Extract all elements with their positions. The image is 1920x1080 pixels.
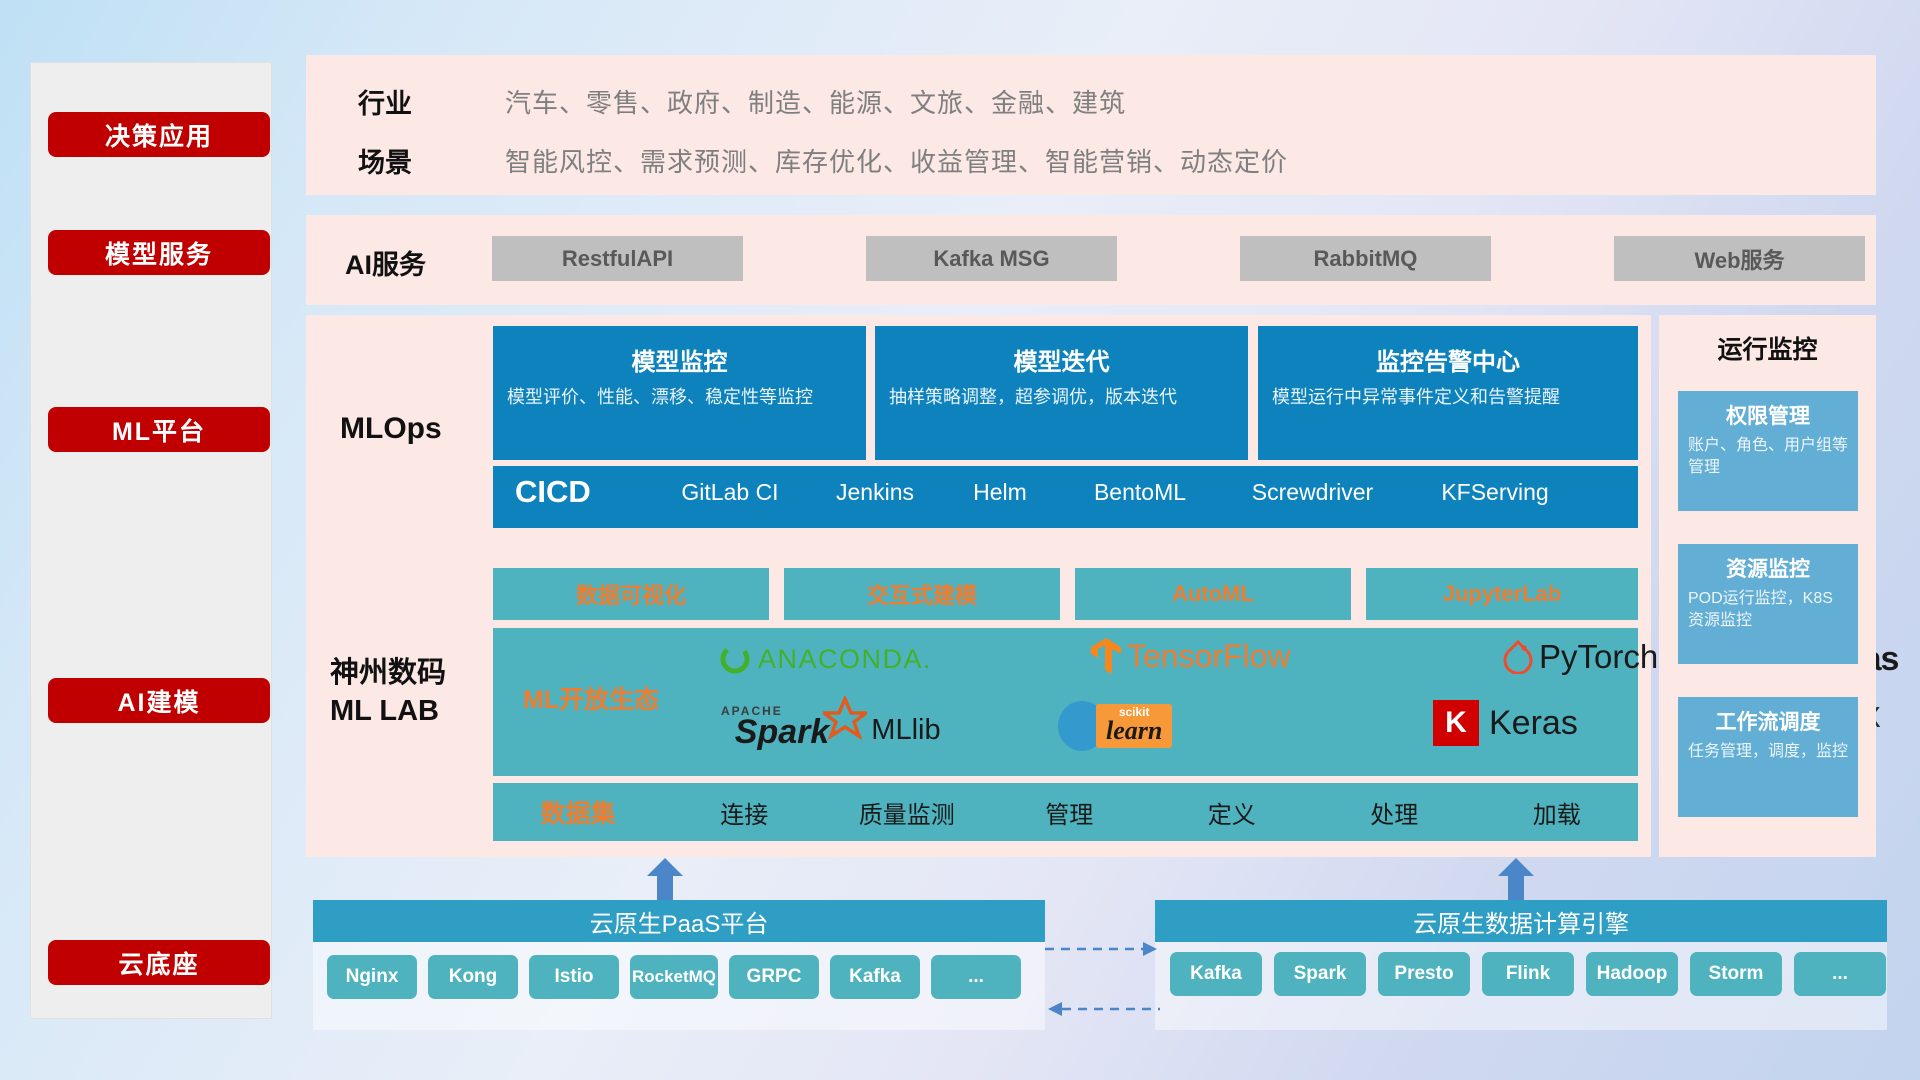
data-engine-item-flink[interactable]: Flink	[1482, 952, 1574, 996]
lab-tool-automl[interactable]: AutoML	[1075, 568, 1351, 620]
ai-service-label: AI服务	[345, 243, 426, 282]
cicd-bar: CICD GitLab CI Jenkins Helm BentoML Scre…	[493, 466, 1638, 528]
data-engine-item-label: Presto	[1394, 964, 1453, 984]
cicd-item-bentoml[interactable]: BentoML	[1065, 466, 1215, 507]
runtime-card-desc: 任务管理，调度，监控	[1688, 741, 1848, 763]
tensorflow-logo: TensorFlow	[1089, 636, 1291, 676]
tensorflow-icon	[1089, 636, 1123, 676]
ml-ecosystem-box: ML开放生态 ANACONDA. TensorFlow PyTorch S	[493, 628, 1638, 776]
layer-chip-label: 模型服务	[105, 235, 213, 271]
mlops-card-title: 模型迭代	[889, 342, 1234, 377]
ai-service-item-label: Kafka MSG	[933, 246, 1049, 272]
layer-chip-cloud-foundation[interactable]: 云底座	[48, 940, 270, 985]
data-engine-item-label: Hadoop	[1597, 964, 1668, 984]
paas-item-kafka[interactable]: Kafka	[830, 955, 920, 999]
ai-service-item-rabbitmq[interactable]: RabbitMQ	[1240, 236, 1491, 281]
paas-item-nginx[interactable]: Nginx	[327, 955, 417, 999]
runtime-card-desc: 账户、角色、用户组等管理	[1688, 435, 1848, 478]
layer-chip-label: 决策应用	[105, 117, 213, 153]
mlops-card-desc: 模型运行中异常事件定义和告警提醒	[1272, 385, 1624, 410]
arrow-up-paas	[645, 858, 685, 898]
lab-tool-label: AutoML	[1172, 581, 1254, 607]
ai-service-item-label: RestfulAPI	[562, 246, 673, 272]
paas-item-grpc[interactable]: GRPC	[729, 955, 819, 999]
runtime-card-title: 资源监控	[1688, 553, 1848, 583]
runtime-card-title: 权限管理	[1688, 400, 1848, 430]
data-engine-item-storm[interactable]: Storm	[1690, 952, 1782, 996]
paas-item-label: Kafka	[849, 967, 901, 987]
runtime-card-permission-management[interactable]: 权限管理 账户、角色、用户组等管理	[1678, 391, 1858, 511]
dataset-item-loading[interactable]: 加载	[1476, 795, 1639, 830]
paas-title: 云原生PaaS平台	[313, 900, 1045, 942]
pytorch-icon	[1503, 640, 1533, 674]
layer-chip-ai-modeling[interactable]: AI建模	[48, 678, 270, 723]
mlops-label: MLOps	[340, 412, 442, 446]
layer-chip-label: ML平台	[112, 412, 206, 448]
lab-tool-label: 交互式建模	[867, 578, 977, 610]
ai-service-item-label: RabbitMQ	[1314, 246, 1418, 272]
architecture-diagram: 决策应用 模型服务 ML平台 AI建模 云底座 行业 汽车、零售、政府、制造、能…	[0, 0, 1920, 1080]
anaconda-logo: ANACONDA.	[718, 642, 932, 676]
dataset-item-processing[interactable]: 处理	[1313, 795, 1476, 830]
lab-tool-label: 数据可视化	[576, 578, 686, 610]
layer-chip-ml-platform[interactable]: ML平台	[48, 407, 270, 452]
paas-item-istio[interactable]: Istio	[529, 955, 619, 999]
paas-item-label: GRPC	[747, 967, 802, 987]
anaconda-icon	[718, 642, 752, 676]
mlops-card-title: 模型监控	[507, 342, 852, 377]
layer-chip-label: AI建模	[117, 683, 200, 719]
dataset-bar: 数据集 连接 质量监测 管理 定义 处理 加载	[493, 783, 1638, 841]
ai-service-item-label: Web服务	[1694, 243, 1784, 275]
data-engine-item-label: ...	[1832, 964, 1848, 984]
industry-label: 行业	[358, 82, 412, 121]
keras-logo: K Keras	[1433, 700, 1578, 746]
paas-item-kong[interactable]: Kong	[428, 955, 518, 999]
mlops-card-model-iteration[interactable]: 模型迭代 抽样策略调整，超参调优，版本迭代	[875, 326, 1248, 460]
cicd-item-jenkins[interactable]: Jenkins	[815, 466, 935, 507]
data-engine-item-presto[interactable]: Presto	[1378, 952, 1470, 996]
paas-item-rocketmq[interactable]: RocketMQ	[630, 955, 718, 999]
ai-service-item-restfulapi[interactable]: RestfulAPI	[492, 236, 743, 281]
layer-chip-decision-apps[interactable]: 决策应用	[48, 112, 270, 157]
connector-arrow-left	[1045, 1000, 1160, 1023]
scikit-learn-logo: scikit learn	[1054, 700, 1172, 752]
data-engine-title-label: 云原生数据计算引擎	[1413, 904, 1629, 939]
lab-tool-interactive-modeling[interactable]: 交互式建模	[784, 568, 1060, 620]
spark-star-icon	[823, 696, 867, 740]
connector-arrow-right	[1045, 940, 1160, 963]
paas-item-label: RocketMQ	[632, 968, 716, 986]
data-engine-item-spark[interactable]: Spark	[1274, 952, 1366, 996]
lab-tool-jupyterlab[interactable]: JupyterLab	[1366, 568, 1638, 620]
pytorch-logo: PyTorch	[1503, 638, 1658, 676]
layer-chip-model-service[interactable]: 模型服务	[48, 230, 270, 275]
layer-chip-label: 云底座	[118, 945, 199, 981]
paas-item-label: Kong	[449, 967, 498, 987]
runtime-card-resource-monitoring[interactable]: 资源监控 POD运行监控，K8S资源监控	[1678, 544, 1858, 664]
data-engine-item-hadoop[interactable]: Hadoop	[1586, 952, 1678, 996]
cicd-item-screwdriver[interactable]: Screwdriver	[1215, 466, 1410, 507]
ml-ecosystem-label: ML开放生态	[523, 680, 659, 716]
data-engine-item-label: Storm	[1709, 964, 1764, 984]
mlops-card-desc: 模型评价、性能、漂移、稳定性等监控	[507, 385, 852, 410]
dataset-title: 数据集	[493, 794, 663, 830]
lab-tool-data-visualization[interactable]: 数据可视化	[493, 568, 769, 620]
paas-item-label: Nginx	[346, 967, 399, 987]
dataset-item-connect[interactable]: 连接	[663, 795, 826, 830]
industry-text: 汽车、零售、政府、制造、能源、文旅、金融、建筑	[505, 83, 1126, 120]
mlops-card-desc: 抽样策略调整，超参调优，版本迭代	[889, 385, 1234, 410]
data-engine-item-more[interactable]: ...	[1794, 952, 1886, 996]
cicd-item-helm[interactable]: Helm	[935, 466, 1065, 507]
dataset-item-quality-monitoring[interactable]: 质量监测	[826, 795, 989, 830]
scenario-text: 智能风控、需求预测、库存优化、收益管理、智能营销、动态定价	[505, 142, 1288, 179]
mlops-card-model-monitoring[interactable]: 模型监控 模型评价、性能、漂移、稳定性等监控	[493, 326, 866, 460]
mlops-card-title: 监控告警中心	[1272, 342, 1624, 377]
data-engine-item-label: Kafka	[1190, 964, 1242, 984]
keras-icon: K	[1433, 700, 1479, 746]
arrow-up-data-engine	[1496, 858, 1536, 898]
layer-rail	[30, 62, 272, 1019]
runtime-card-desc: POD运行监控，K8S资源监控	[1688, 588, 1848, 631]
cicd-item-kfserving[interactable]: KFServing	[1410, 466, 1580, 507]
runtime-card-workflow-scheduling[interactable]: 工作流调度 任务管理，调度，监控	[1678, 697, 1858, 817]
scenario-label: 场景	[358, 141, 412, 180]
data-engine-item-kafka[interactable]: Kafka	[1170, 952, 1262, 996]
cicd-item-gitlab-ci[interactable]: GitLab CI	[645, 466, 815, 507]
ai-service-item-web-service[interactable]: Web服务	[1614, 236, 1865, 281]
data-engine-item-label: Spark	[1294, 964, 1347, 984]
cicd-title: CICD	[493, 466, 645, 510]
paas-item-label: Istio	[554, 967, 593, 987]
dataset-item-definition[interactable]: 定义	[1151, 795, 1314, 830]
paas-item-label: ...	[968, 967, 984, 987]
data-engine-item-label: Flink	[1506, 964, 1550, 984]
ml-lab-label-line2: ML LAB	[330, 693, 446, 731]
dataset-item-management[interactable]: 管理	[988, 795, 1151, 830]
spark-mllib-logo: APACHE Spark MLlib	[721, 702, 941, 746]
runtime-monitor-title: 运行监控	[1659, 330, 1876, 366]
ml-lab-label: 神州数码 ML LAB	[330, 655, 446, 730]
ai-service-item-kafka-msg[interactable]: Kafka MSG	[866, 236, 1117, 281]
paas-title-label: 云原生PaaS平台	[590, 904, 769, 939]
ml-lab-label-line1: 神州数码	[330, 655, 446, 693]
lab-tool-label: JupyterLab	[1443, 581, 1562, 607]
runtime-card-title: 工作流调度	[1688, 706, 1848, 736]
paas-item-more[interactable]: ...	[931, 955, 1021, 999]
data-engine-title: 云原生数据计算引擎	[1155, 900, 1887, 942]
mlops-card-alert-center[interactable]: 监控告警中心 模型运行中异常事件定义和告警提醒	[1258, 326, 1638, 460]
